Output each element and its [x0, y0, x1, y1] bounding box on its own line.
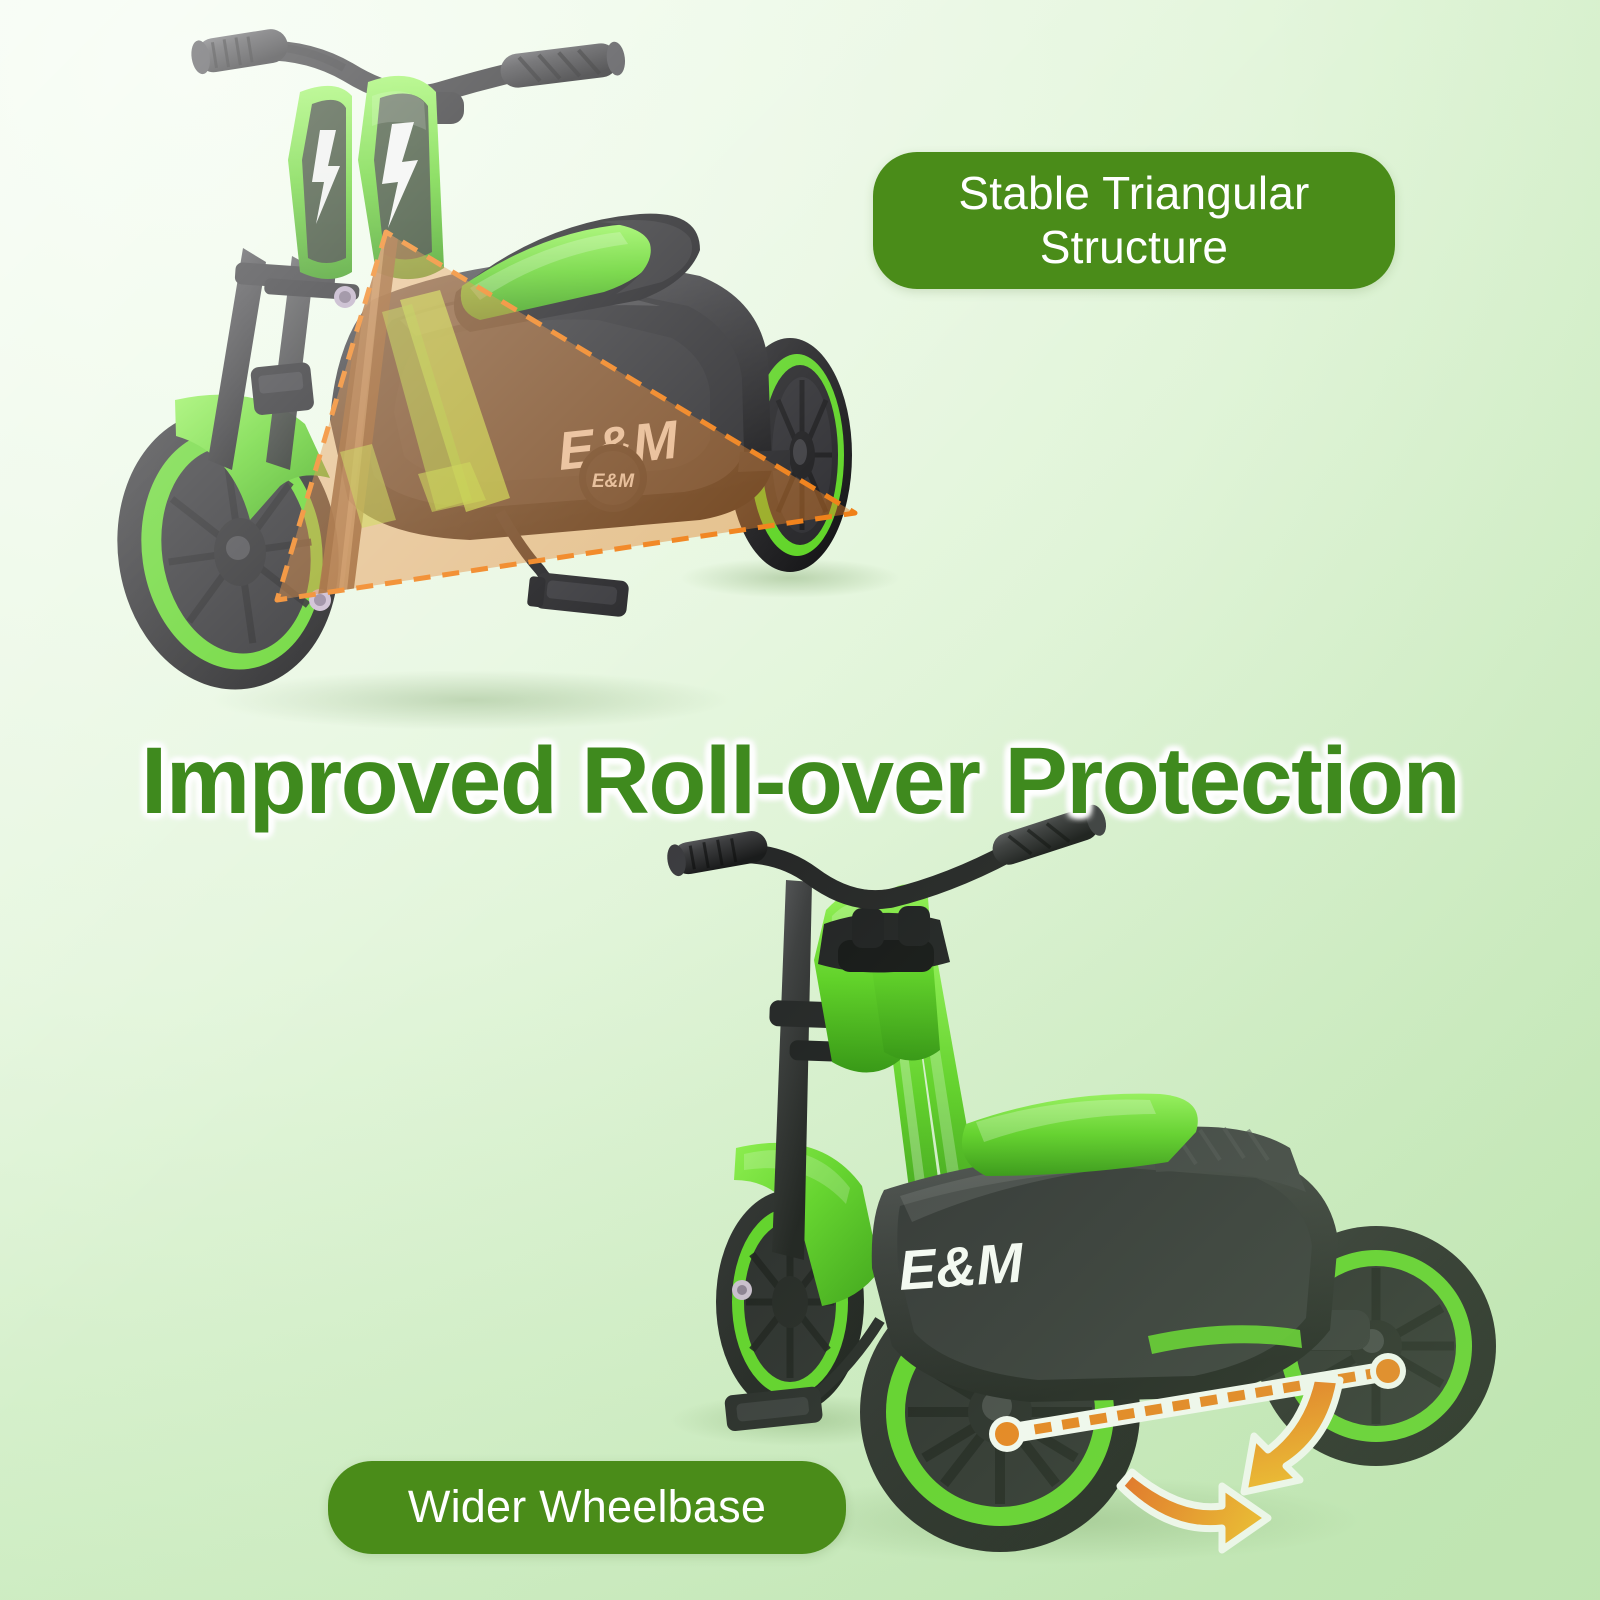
page-headline: Improved Roll-over Protection	[0, 727, 1600, 836]
badge-structure-label: Stable Triangular Structure	[958, 167, 1309, 274]
badge-wider-wheelbase: Wider Wheelbase	[328, 1461, 846, 1554]
top-bike-illustration: E&M E&M	[100, 27, 900, 730]
badge-structure-line1: Stable Triangular	[958, 167, 1309, 219]
badge-wheelbase-label: Wider Wheelbase	[408, 1481, 766, 1533]
brand-text-bottom: E&M	[896, 1230, 1026, 1302]
badge-stable-triangular-structure: Stable Triangular Structure	[873, 152, 1395, 289]
bottom-bike-illustration: E&M	[665, 802, 1496, 1564]
promo-image-canvas: E&M E&M	[0, 0, 1600, 1600]
top-bike-front-shroud-left	[288, 86, 352, 279]
badge-structure-line2: Structure	[1040, 221, 1228, 273]
